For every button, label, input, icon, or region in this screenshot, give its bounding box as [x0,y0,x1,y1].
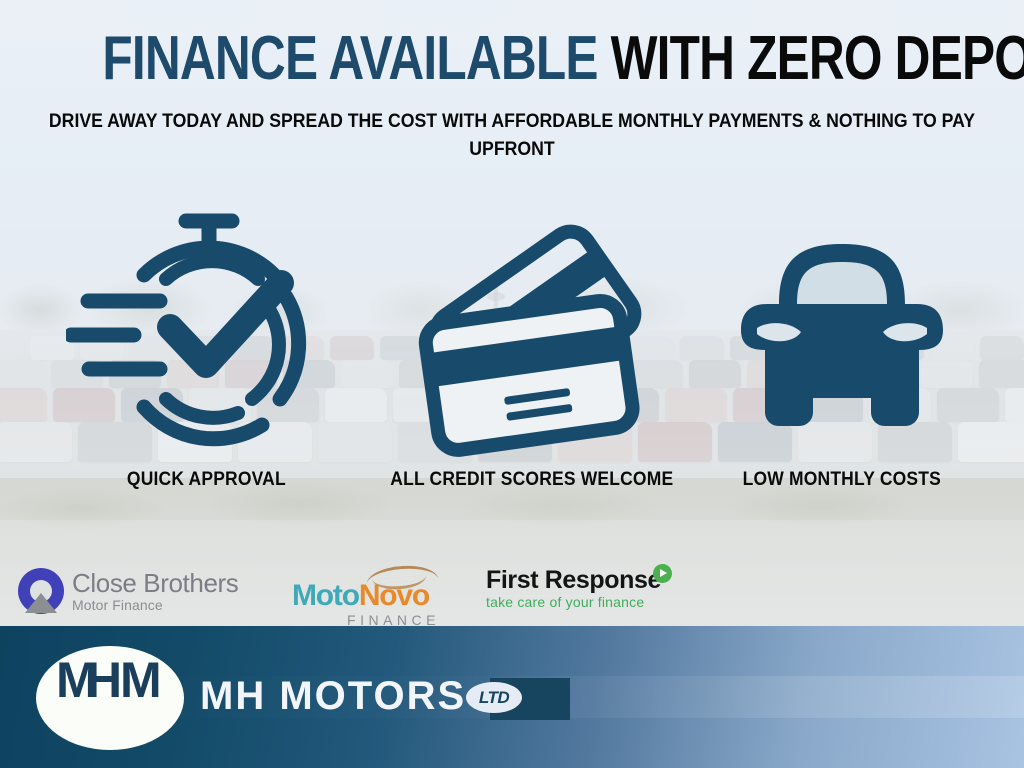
headline-part-black: WITH ZERO DEPOSIT [611,24,1024,93]
close-brothers-sub: Motor Finance [72,597,238,613]
page-subtitle: DRIVE AWAY TODAY AND SPREAD THE COST WIT… [36,108,988,164]
footer-brand-bar: M H M MH MOTORS LTD 35 YEARS IN BUSINESS [0,626,1024,768]
motonovo-name-a: Moto [292,579,359,612]
motonovo-logo: MotoNovo FINANCE [292,568,442,628]
ltd-label: LTD [479,688,509,708]
close-brothers-logo: Close Brothers Motor Finance [18,568,238,614]
feature-label: ALL CREDIT SCORES WELCOME [390,469,673,491]
mhm-logo-badge: M H M [36,646,184,750]
first-response-tagline: take care of your finance [486,594,666,611]
first-response-logo: First Response take care of your finance [486,566,666,611]
feature-label: QUICK APPROVAL [127,469,286,491]
finance-partner-logos: Close Brothers Motor Finance MotoNovo FI… [0,560,1024,626]
headline-part-blue: FINANCE AVAILABLE [102,24,597,93]
monogram-letter-m2: M [120,662,159,698]
feature-label: LOW MONTHLY COSTS [743,469,941,491]
brand-name: MH MOTORS [200,674,466,719]
ltd-badge: LTD [466,682,522,713]
credit-cards-icon [397,205,667,475]
mhm-monogram: M H M [58,680,162,716]
monogram-letter-h: H [86,662,119,698]
feature-all-credit-scores: ALL CREDIT SCORES WELCOME [362,205,702,535]
close-brothers-mark-icon [18,568,64,614]
feature-low-monthly-costs: LOW MONTHLY COSTS [672,205,1012,535]
first-response-name: First Response [486,566,666,594]
car-front-icon [717,205,967,475]
stopwatch-check-icon [66,205,346,475]
play-button-icon [653,564,672,583]
page-title: FINANCE AVAILABLE WITH ZERO DEPOSIT [102,28,921,90]
feature-quick-approval: QUICK APPROVAL [36,205,376,535]
close-brothers-name: Close Brothers [72,570,238,597]
